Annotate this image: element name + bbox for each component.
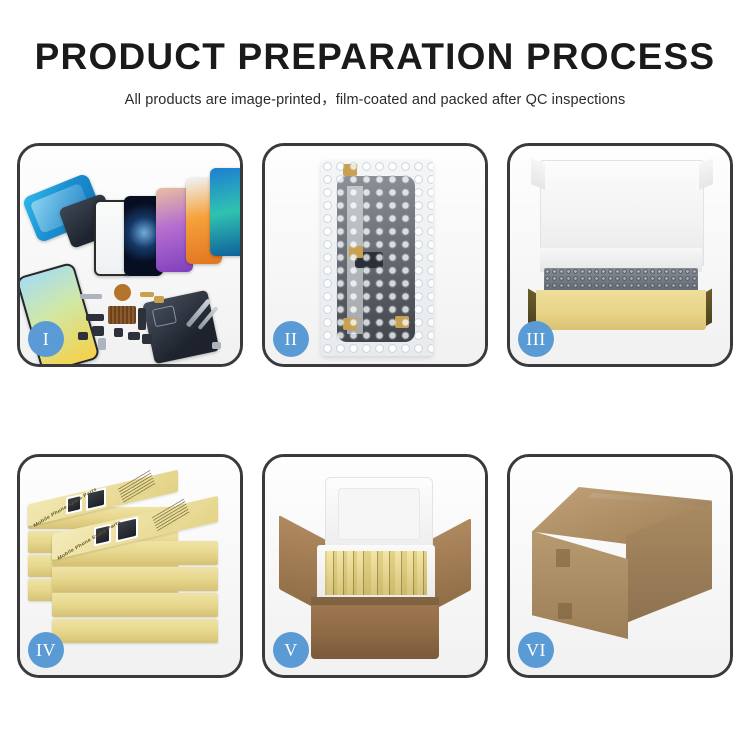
tape-bottom-left xyxy=(343,318,357,330)
step-badge-4: IV xyxy=(28,632,64,668)
gold-bracket xyxy=(154,296,164,303)
step-image-5: V xyxy=(265,457,485,675)
gold-contact xyxy=(140,292,154,297)
tape-bottom-right xyxy=(395,316,409,328)
step-panel-6[interactable]: VI xyxy=(507,454,733,678)
carton-tape-lower xyxy=(558,603,572,619)
small-connector xyxy=(128,332,140,340)
step-badge-1: I xyxy=(28,321,64,357)
logic-board xyxy=(108,306,136,324)
carton-front-face xyxy=(532,531,628,639)
step-panel-4[interactable]: Mobile Phone Spare Parts Mobile Phone Sp… xyxy=(17,454,243,678)
step-image-1: I xyxy=(20,146,240,364)
screw-set xyxy=(142,334,152,344)
step-image-3: III xyxy=(510,146,730,364)
foam-lid xyxy=(325,477,433,551)
spare-screw xyxy=(212,342,221,349)
box-spec-lines-front xyxy=(152,498,190,532)
product-preparation-page: PRODUCT PREPARATION PROCESS All products… xyxy=(0,0,750,750)
page-subtitle: All products are image-printed，film-coat… xyxy=(0,88,750,109)
stacked-box-front-1 xyxy=(52,619,218,643)
vibration-motor xyxy=(114,328,123,337)
yellow-box-body xyxy=(536,290,706,330)
flex-cable-a xyxy=(86,314,104,321)
step-image-6: VI xyxy=(510,457,730,675)
page-title: PRODUCT PREPARATION PROCESS xyxy=(0,38,750,77)
speaker-component xyxy=(114,284,131,301)
step-badge-3: III xyxy=(518,321,554,357)
step-panel-5[interactable]: V xyxy=(262,454,488,678)
connector-strip xyxy=(80,294,102,299)
box-spec-lines-rear xyxy=(118,470,156,504)
process-step-grid: I II xyxy=(17,143,733,678)
carton-tape-upper xyxy=(556,549,570,567)
tape-middle xyxy=(349,246,363,258)
bracket-part xyxy=(78,332,88,340)
step-badge-5: V xyxy=(273,632,309,668)
bubble-wrap-bag xyxy=(321,160,433,356)
packed-yellow-boxes xyxy=(325,551,427,595)
step-panel-1[interactable]: I xyxy=(17,143,243,367)
stacked-box-front-2 xyxy=(52,593,218,617)
step-panel-3[interactable]: III xyxy=(507,143,733,367)
stacked-box-front-3 xyxy=(52,567,218,591)
camera-module xyxy=(92,326,104,336)
carton-body-open xyxy=(311,597,439,659)
step-image-2: II xyxy=(265,146,485,364)
tape-top xyxy=(343,164,357,176)
step-panel-2[interactable]: II xyxy=(262,143,488,367)
sim-tray xyxy=(98,338,106,350)
page-header: PRODUCT PREPARATION PROCESS All products… xyxy=(0,38,750,109)
flex-cable-b xyxy=(138,308,146,330)
phone-display-teal xyxy=(210,168,240,256)
sealed-carton xyxy=(532,487,712,639)
step-image-4: Mobile Phone Spare Parts Mobile Phone Sp… xyxy=(20,457,240,675)
step-badge-6: VI xyxy=(518,632,554,668)
step-badge-2: II xyxy=(273,321,309,357)
